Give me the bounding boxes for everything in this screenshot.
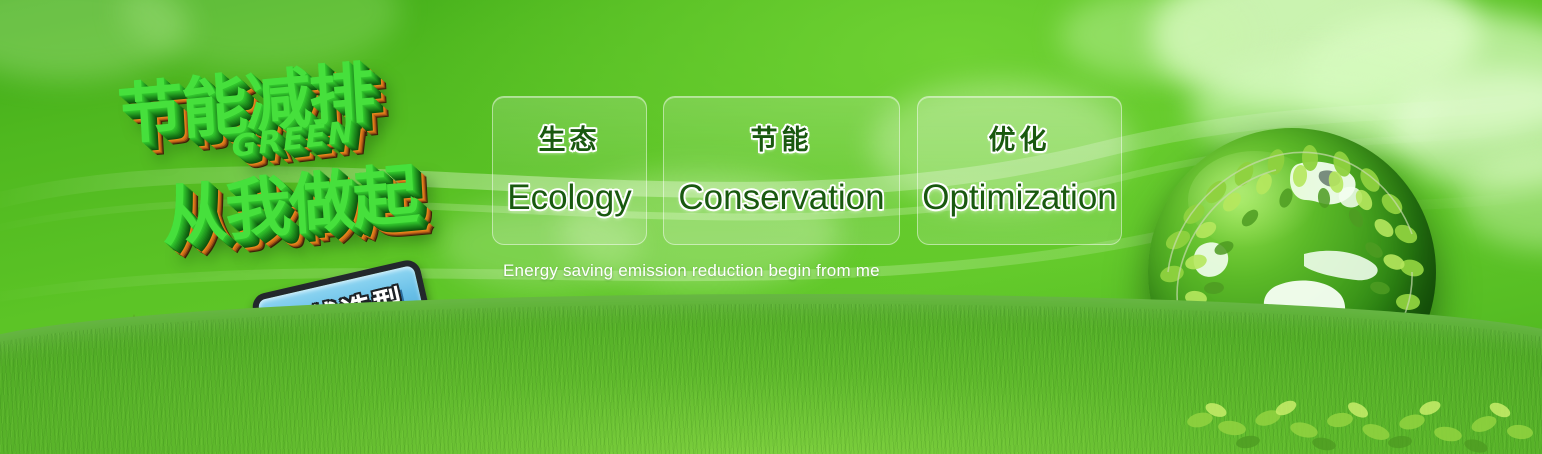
eco-promo-banner: 节能减排 GREEN 从我做起 在线选型 生态 Ecology 节能 Conse… [0, 0, 1542, 454]
feature-card-conservation[interactable]: 节能 Conservation [663, 96, 900, 245]
feature-card-ecology[interactable]: 生态 Ecology [492, 96, 647, 245]
cloud-icon [1150, 0, 1480, 110]
cloud-icon [1460, 150, 1542, 250]
headline-3d-artwork: 节能减排 GREEN 从我做起 [98, 34, 489, 270]
headline-line-2: 从我做起 [158, 141, 418, 260]
cloud-icon [1300, 10, 1542, 140]
feature-card-optimization-cn: 优化 [989, 127, 1051, 154]
banner-tagline: Energy saving emission reduction begin f… [503, 261, 880, 281]
feature-card-optimization[interactable]: 优化 Optimization [917, 96, 1122, 245]
feature-card-optimization-en: Optimization [922, 180, 1117, 215]
feature-card-ecology-cn: 生态 [539, 127, 601, 154]
scattered-leaves-icon [1180, 364, 1542, 454]
feature-card-ecology-en: Ecology [507, 180, 632, 215]
feature-card-conservation-cn: 节能 [751, 127, 813, 154]
feature-card-conservation-en: Conservation [678, 180, 884, 215]
cloud-icon [1060, 0, 1250, 80]
